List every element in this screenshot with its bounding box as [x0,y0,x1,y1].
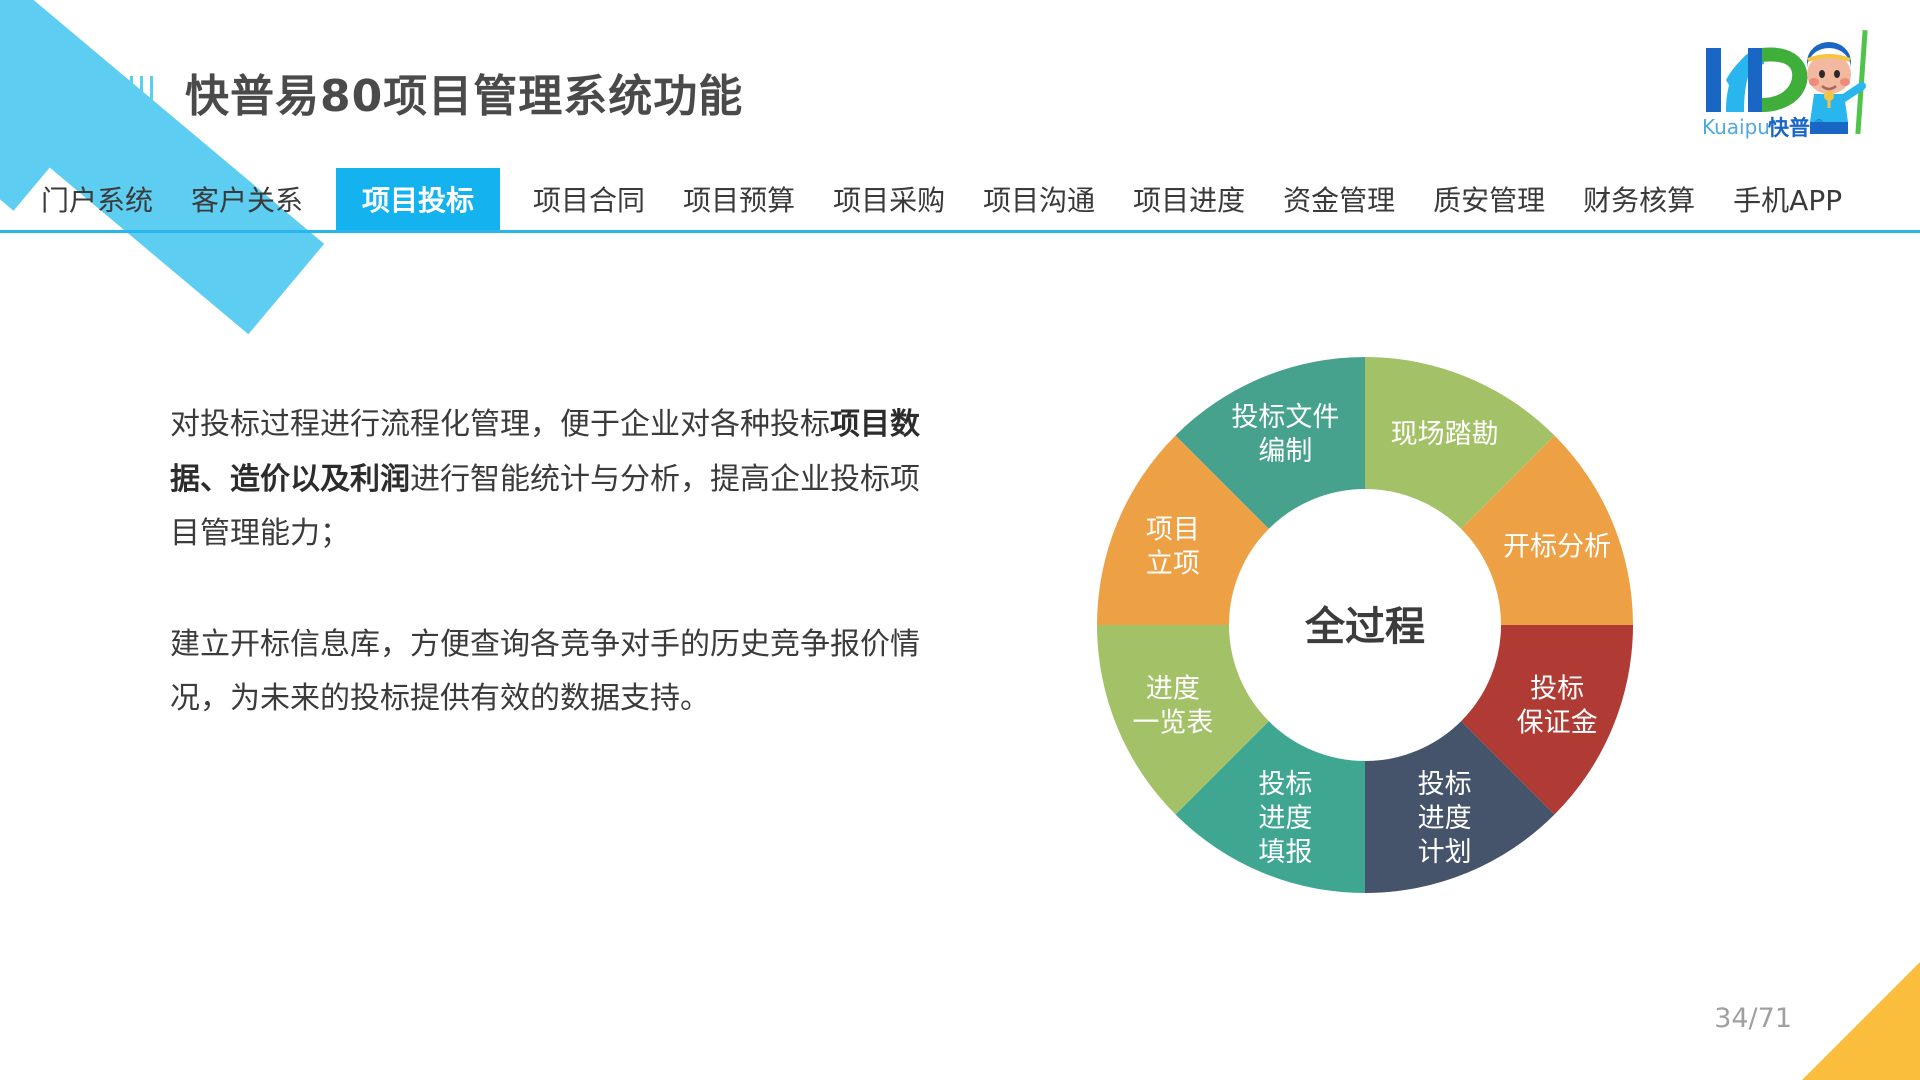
brand-logo: Kuaipu 快普 ® [1696,22,1892,142]
donut-svg: 全过程 现场踏勘开标分析投标保证金投标进度计划投标进度填报进度一览表项目立项投标… [1040,300,1690,980]
bottom-right-triangle-decoration [1802,962,1920,1080]
process-donut-chart: 全过程 现场踏勘开标分析投标保证金投标进度计划投标进度填报进度一览表项目立项投标… [1040,300,1690,980]
logo-registered-mark: ® [1814,118,1824,129]
donut-segment-label-0: 现场踏勘 [1391,419,1499,450]
paragraph-1-part-a: 对投标过程进行流程化管理，便于企业对各种投标 [170,407,830,442]
logo-wordmark: Kuaipu [1702,115,1770,139]
paragraph-1: 对投标过程进行流程化管理，便于企业对各种投标项目数据、造价以及利润进行智能统计与… [170,398,930,562]
paragraph-spacer [170,562,930,618]
nav-item-6[interactable]: 项目沟通 [964,168,1114,230]
nav-item-0[interactable]: 门户系统 [22,168,172,230]
page-title: 快普易80项目管理系统功能 [185,60,743,124]
slide-header: 快普易80项目管理系统功能 [0,24,1920,116]
paragraph-2: 建立开标信息库，方便查询各竞争对手的历史竞争报价情况，为未来的投标提供有效的数据… [170,618,930,727]
nav-item-11[interactable]: 手机APP [1714,168,1861,230]
donut-center-label: 全过程 [1304,604,1425,650]
kuaipu-logo-icon: Kuaipu 快普 ® [1696,22,1892,142]
module-navbar: 门户系统客户关系项目投标项目合同项目预算项目采购项目沟通项目进度资金管理质安管理… [0,168,1920,230]
logo-cn-name: 快普 [1768,116,1810,140]
page-number: 34/71 [1714,1003,1792,1034]
donut-segment-label-1: 开标分析 [1503,531,1611,562]
nav-item-8[interactable]: 资金管理 [1264,168,1414,230]
slide-root: 快普易80项目管理系统功能 [0,0,1920,1080]
nav-item-1[interactable]: 客户关系 [172,168,322,230]
module-nav-items: 门户系统客户关系项目投标项目合同项目预算项目采购项目沟通项目进度资金管理质安管理… [22,168,1861,230]
nav-item-4[interactable]: 项目预算 [664,168,814,230]
nav-item-5[interactable]: 项目采购 [814,168,964,230]
navbar-underline [0,230,1920,233]
nav-item-2[interactable]: 项目投标 [336,168,500,230]
nav-item-7[interactable]: 项目进度 [1114,168,1264,230]
description-copy: 对投标过程进行流程化管理，便于企业对各种投标项目数据、造价以及利润进行智能统计与… [170,398,930,727]
donut-segment-label-3: 投标进度计划 [1418,769,1472,868]
nav-item-3[interactable]: 项目合同 [514,168,664,230]
nav-item-9[interactable]: 质安管理 [1414,168,1564,230]
nav-item-10[interactable]: 财务核算 [1564,168,1714,230]
donut-segment-label-4: 投标进度填报 [1258,769,1312,868]
title-bars-icon [130,76,153,110]
